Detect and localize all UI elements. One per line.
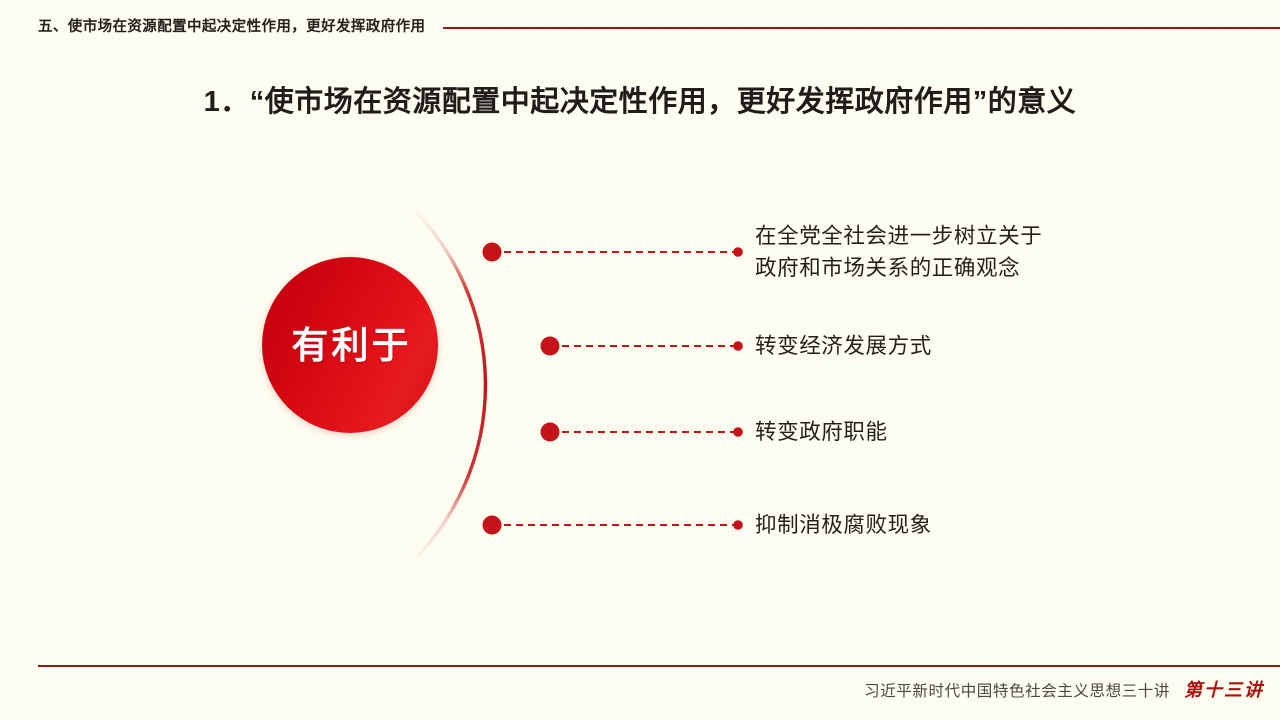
- hub-disc: 有利于: [262, 257, 438, 433]
- slide-header: 五、使市场在资源配置中起决定性作用，更好发挥政府作用: [38, 16, 1280, 38]
- footer-series-title: 习近平新时代中国特色社会主义思想三十讲: [864, 679, 1170, 701]
- arc-node-dot-4: [483, 516, 502, 535]
- node-label-3: 转变政府职能: [755, 416, 888, 448]
- node-label-1: 在全党全社会进一步树立关于 政府和市场关系的正确观念: [755, 220, 1042, 284]
- slide-footer: 习近平新时代中国特色社会主义思想三十讲 第十三讲: [38, 662, 1280, 720]
- connector-end-dot-4: [733, 520, 743, 530]
- header-divider-line: [443, 27, 1280, 29]
- section-title: 五、使市场在资源配置中起决定性作用，更好发挥政府作用: [38, 16, 425, 38]
- arc-node-dot-2: [541, 337, 560, 356]
- hub-label: 有利于: [289, 327, 412, 364]
- slide-canvas: 五、使市场在资源配置中起决定性作用，更好发挥政府作用 1．“使市场在资源配置中起…: [0, 0, 1280, 720]
- connector-end-dot-3: [733, 427, 743, 437]
- diagram-connectors-svg: [0, 150, 1280, 620]
- connector-end-dot-1: [733, 247, 743, 257]
- page-title: 1．“使市场在资源配置中起决定性作用，更好发挥政府作用”的意义: [0, 78, 1280, 120]
- arc-node-dot-3: [541, 423, 560, 442]
- footer-lecture-label: 第十三讲: [1184, 676, 1264, 702]
- connector-end-dot-2: [733, 341, 743, 351]
- hub-circle[interactable]: 有利于: [247, 242, 453, 448]
- node-label-2: 转变经济发展方式: [755, 330, 932, 362]
- footer-meta: 习近平新时代中国特色社会主义思想三十讲 第十三讲: [864, 676, 1264, 702]
- node-label-4: 抑制消极腐败现象: [755, 509, 932, 541]
- arc-node-dot-1: [483, 243, 502, 262]
- footer-divider-line: [38, 665, 1280, 667]
- radial-diagram: 有利于 在全党全社会进一步树立关于 政府和市场关系的正确观念 转变经济发展方式 …: [0, 150, 1280, 620]
